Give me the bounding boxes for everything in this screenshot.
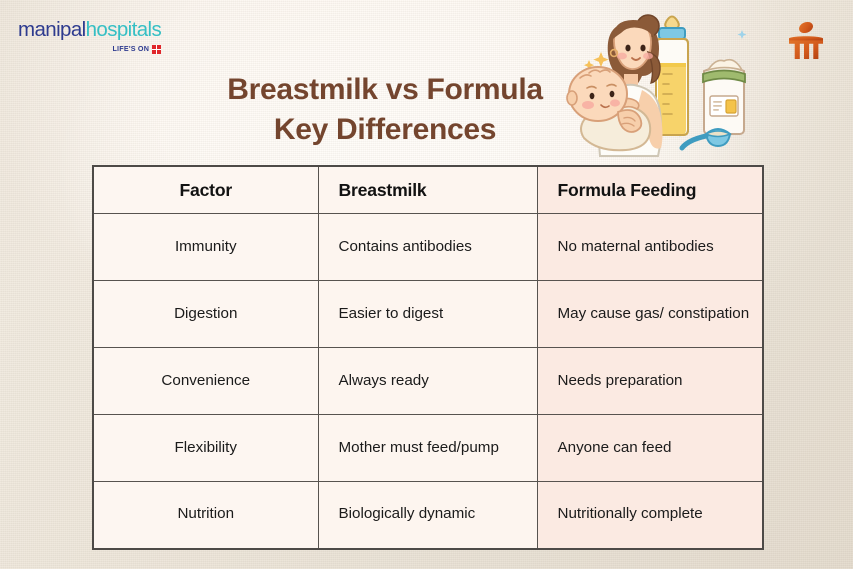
cell-breastmilk: Easier to digest [318,281,537,348]
page-title: Breastmilk vs Formula Key Differences [160,70,610,149]
cell-formula: No maternal antibodies [537,214,763,281]
table-row: Flexibility Mother must feed/pump Anyone… [93,415,763,482]
cell-factor: Immunity [93,214,318,281]
logo-tagline: LIFE'S ON [112,45,149,52]
title-line-1: Breastmilk vs Formula [160,70,610,110]
table-row: Convenience Always ready Needs preparati… [93,348,763,415]
table-row: Nutrition Biologically dynamic Nutrition… [93,482,763,549]
cell-breastmilk: Contains antibodies [318,214,537,281]
cell-breastmilk: Biologically dynamic [318,482,537,549]
cell-factor: Digestion [93,281,318,348]
table-header-row: Factor Breastmilk Formula Feeding [93,166,763,214]
title-line-2: Key Differences [160,110,610,150]
cell-formula: Needs preparation [537,348,763,415]
table-row: Immunity Contains antibodies No maternal… [93,214,763,281]
cell-breastmilk: Always ready [318,348,537,415]
cell-formula: Anyone can feed [537,415,763,482]
red-cross-icon [152,45,161,54]
infographic-poster: manipalhospitals LIFE'S ON Breastmilk vs… [0,0,853,569]
mother-baby-formula-illustration [556,8,768,160]
cell-breastmilk: Mother must feed/pump [318,415,537,482]
comparison-table: Factor Breastmilk Formula Feeding Immuni… [92,165,764,550]
logo-tagline-row: LIFE'S ON [18,45,161,54]
cell-factor: Flexibility [93,415,318,482]
comparison-table-container: Factor Breastmilk Formula Feeding Immuni… [92,165,762,547]
column-header-factor: Factor [93,166,318,214]
column-header-formula-feeding: Formula Feeding [537,166,763,214]
table-row: Digestion Easier to digest May cause gas… [93,281,763,348]
cell-formula: May cause gas/ constipation [537,281,763,348]
cell-factor: Convenience [93,348,318,415]
logo-word-manipal: manipal [18,18,86,41]
column-header-breastmilk: Breastmilk [318,166,537,214]
table-body: Immunity Contains antibodies No maternal… [93,214,763,549]
manipal-hospitals-logo: manipalhospitals LIFE'S ON [18,20,161,54]
logo-word-hospitals: hospitals [86,18,162,41]
logo-wordmark: manipalhospitals [18,20,161,41]
table-header: Factor Breastmilk Formula Feeding [93,166,763,214]
cell-formula: Nutritionally complete [537,482,763,549]
cell-factor: Nutrition [93,482,318,549]
formula-tin-illustration [703,60,745,134]
manipal-m-mark-icon [783,18,829,64]
